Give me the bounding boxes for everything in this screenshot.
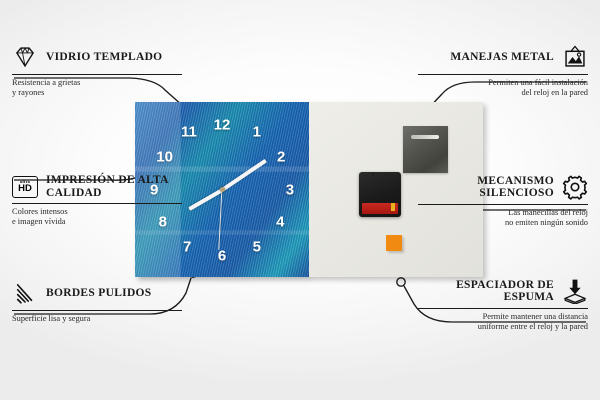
infographic-canvas: 12 1 2 3 4 5 6 7 8 9 10 11 (0, 0, 600, 400)
feature-manejas-metal: MANEJAS METAL Permiten una fácil instala… (418, 44, 588, 98)
feature-subtitle: Las manecillas del reloj no emiten ningú… (418, 208, 588, 228)
feature-subtitle: Permiten una fácil instalación del reloj… (418, 78, 588, 98)
feature-divider (12, 203, 182, 204)
clock-number-12: 12 (214, 117, 231, 132)
feature-subtitle: Resistencia a grietas y rayones (12, 78, 182, 98)
feature-title: ESPACIADOR DE ESPUMA (418, 279, 554, 304)
feature-header: MECANISMO SILENCIOSO (418, 174, 588, 200)
feature-bordes-pulidos: BORDES PULIDOS Superficie lisa y segura (12, 280, 182, 324)
feature-title: BORDES PULIDOS (46, 287, 182, 300)
beveled-edge-icon (12, 280, 38, 306)
clock-number-1: 1 (253, 124, 261, 139)
clock-number-11: 11 (181, 124, 197, 139)
feature-title: MECANISMO SILENCIOSO (418, 175, 554, 200)
battery (362, 203, 398, 214)
clock-center-cap (220, 187, 225, 192)
clock-hour-hand (188, 188, 223, 211)
feature-subtitle: Colores intensos e imagen vívida (12, 207, 182, 227)
feature-title: IMPRESIÓN DE ALTA CALIDAD (46, 174, 182, 199)
feature-divider (418, 308, 588, 309)
feature-mecanismo-silencioso: MECANISMO SILENCIOSO Las manecillas del … (418, 174, 588, 228)
feature-header: VIDRIO TEMPLADO (12, 44, 182, 70)
connector-endpoint-espaciador (397, 278, 405, 286)
feature-divider (418, 74, 588, 75)
ultra-hd-icon-main: HD (18, 184, 32, 194)
feature-title: MANEJAS METAL (418, 51, 554, 64)
clock-movement (359, 172, 401, 217)
picture-frame-hanger-icon (562, 44, 588, 70)
clock-second-hand (218, 189, 223, 249)
foam-spacer-arrow-icon (562, 278, 588, 304)
clock-number-6: 6 (218, 249, 226, 264)
feature-espaciador-de-espuma: ESPACIADOR DE ESPUMA Permite mantener un… (418, 278, 588, 332)
feature-subtitle: Permite mantener una distancia uniforme … (418, 312, 588, 332)
feature-header: ultra HD IMPRESIÓN DE ALTA CALIDAD (12, 174, 182, 199)
feature-header: ESPACIADOR DE ESPUMA (418, 278, 588, 304)
feature-header: BORDES PULIDOS (12, 280, 182, 306)
feature-divider (418, 204, 588, 205)
ultra-hd-icon: ultra HD (12, 176, 38, 198)
movement-hanging-loop (372, 172, 388, 176)
feature-title: VIDRIO TEMPLADO (46, 51, 182, 64)
feature-divider (12, 310, 182, 311)
gear-icon (562, 174, 588, 200)
clock-number-7: 7 (183, 240, 191, 255)
clock-number-3: 3 (286, 182, 294, 197)
feature-impresion-alta-calidad: ultra HD IMPRESIÓN DE ALTA CALIDAD Color… (12, 174, 182, 227)
hanger-slot (411, 135, 439, 139)
clock-number-10: 10 (156, 150, 173, 165)
clock-number-2: 2 (277, 150, 285, 165)
clock-number-4: 4 (276, 214, 284, 229)
clock-number-5: 5 (253, 240, 261, 255)
clock-minute-hand (221, 158, 267, 191)
diamond-icon (12, 44, 38, 70)
feature-header: MANEJAS METAL (418, 44, 588, 70)
foam-spacer (386, 235, 402, 251)
battery-terminal (391, 203, 395, 210)
feature-vidrio-templado: VIDRIO TEMPLADO Resistencia a grietas y … (12, 44, 182, 98)
feature-subtitle: Superficie lisa y segura (12, 314, 182, 324)
feature-divider (12, 74, 182, 75)
metal-hanger-plate (403, 126, 448, 173)
